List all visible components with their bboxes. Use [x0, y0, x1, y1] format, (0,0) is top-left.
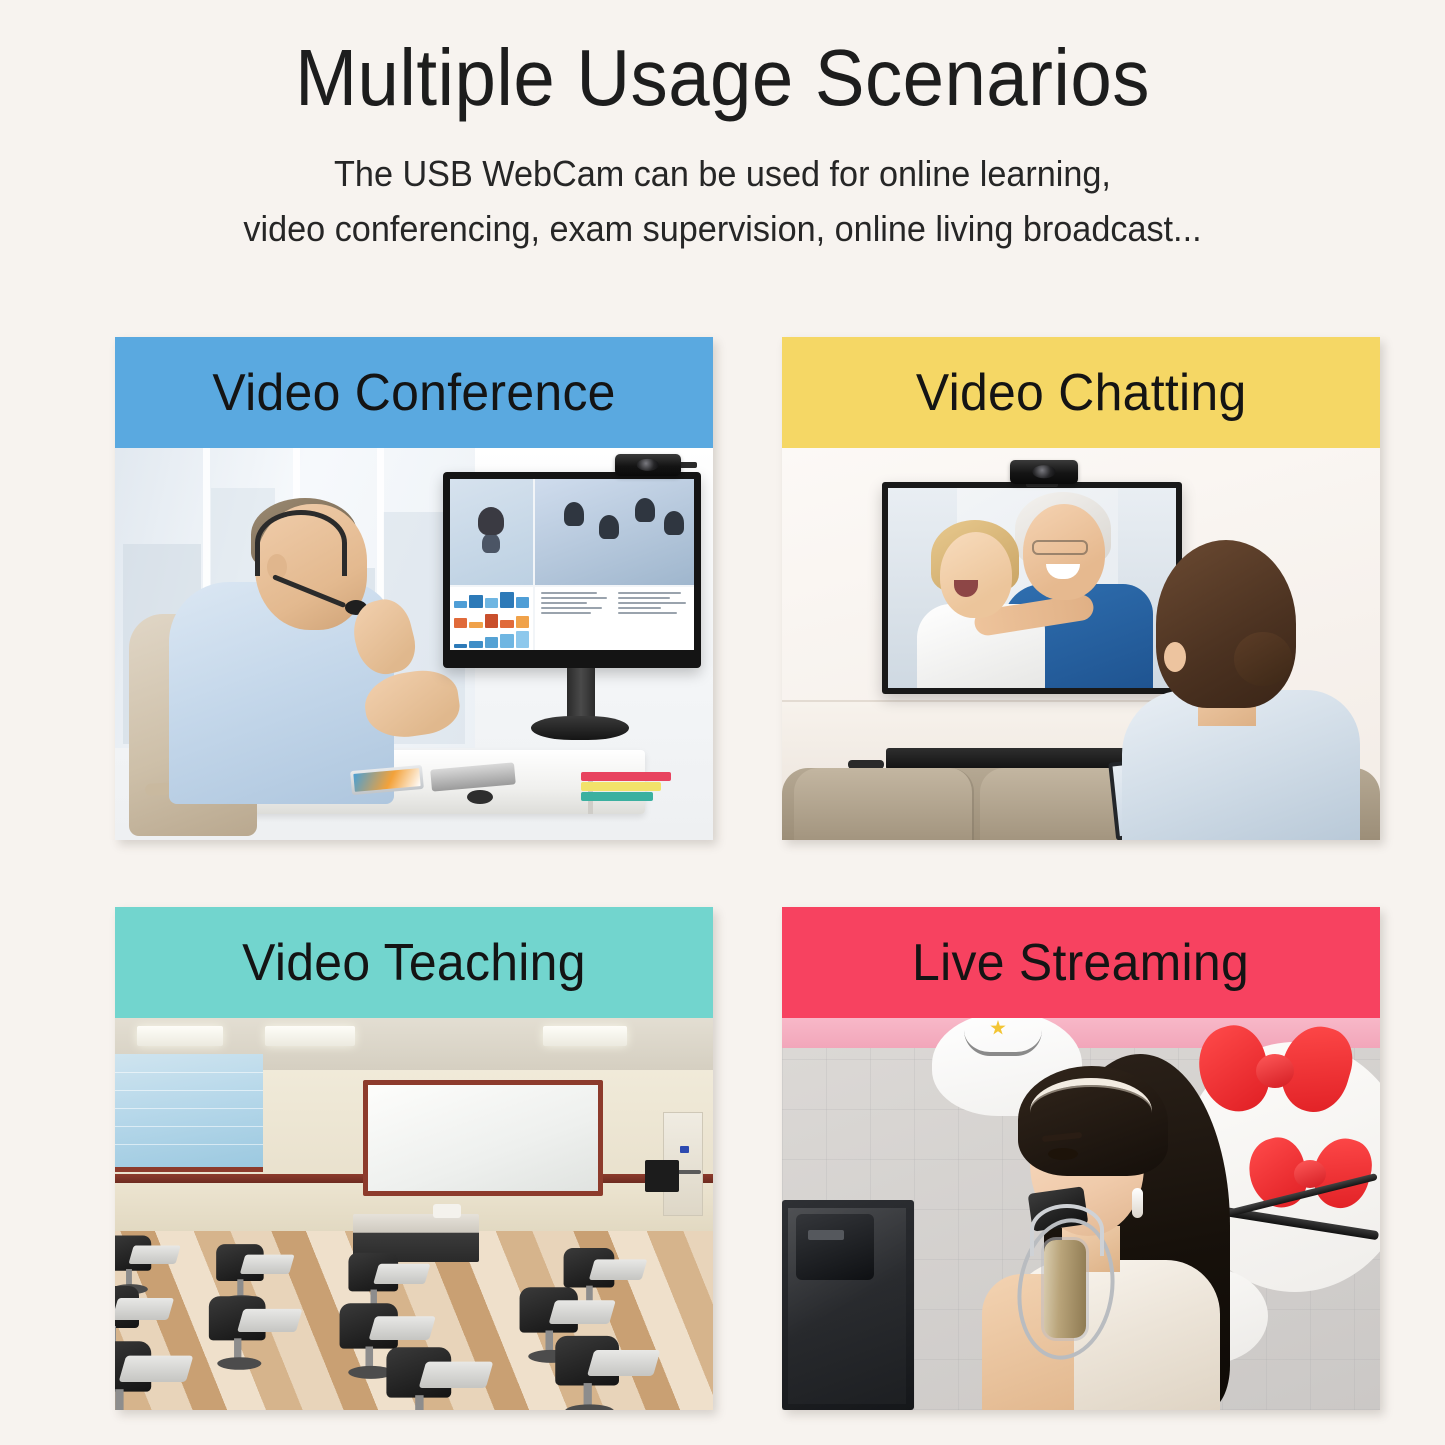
screen-text-column	[541, 592, 613, 647]
video-tile-person	[635, 498, 655, 522]
desk-clamp	[796, 1214, 874, 1280]
couch-cushion	[794, 768, 974, 840]
girl-head	[940, 532, 1012, 618]
grandmother-glasses	[1032, 540, 1088, 555]
viewer-person	[1112, 540, 1362, 840]
ceiling-light	[543, 1026, 627, 1046]
scenario-card-live-streaming[interactable]: Live Streaming	[782, 907, 1380, 1410]
card-photo-video-teaching	[115, 1018, 713, 1410]
page-subtitle-line-2: video conferencing, exam supervision, on…	[36, 202, 1409, 257]
person-ear	[1164, 642, 1186, 672]
card-label-live-streaming: Live Streaming	[912, 933, 1249, 993]
desk-notebooks	[581, 772, 671, 802]
wall-mounted-monitor	[645, 1160, 679, 1192]
card-banner-video-teaching: Video Teaching	[115, 907, 713, 1018]
whiteboard-surface	[368, 1085, 598, 1191]
page-subtitle: The USB WebCam can be used for online le…	[36, 147, 1409, 256]
person-hair-bun	[1234, 632, 1292, 686]
card-banner-video-chatting: Video Chatting	[782, 337, 1380, 448]
student-desk	[209, 1296, 299, 1367]
headset-band-icon	[255, 510, 347, 576]
page-title: Multiple Usage Scenarios	[51, 36, 1395, 121]
monitor-base	[531, 716, 629, 740]
scenario-card-video-chatting[interactable]: Video Chatting	[782, 337, 1380, 840]
screen-chart-panel	[450, 587, 533, 650]
card-banner-live-streaming: Live Streaming	[782, 907, 1380, 1018]
ceiling-light	[265, 1026, 355, 1046]
person-earring	[1132, 1188, 1143, 1218]
monitor-screen	[450, 479, 694, 650]
scenario-card-video-teaching[interactable]: Video Teaching	[115, 907, 713, 1410]
card-label-video-chatting: Video Chatting	[916, 363, 1247, 423]
usb-webcam-icon	[1010, 460, 1078, 484]
video-tile-person	[599, 515, 619, 539]
panel-indicator-led	[680, 1146, 689, 1153]
desk-mouse	[467, 790, 493, 804]
desk-object	[433, 1204, 461, 1218]
student-desk	[216, 1244, 292, 1304]
person-eye	[1048, 1148, 1078, 1160]
student-desk	[115, 1235, 178, 1292]
page-header: Multiple Usage Scenarios The USB WebCam …	[0, 0, 1445, 256]
screen-text-panel	[535, 587, 694, 650]
presenter-person	[159, 504, 429, 804]
card-label-video-conference: Video Conference	[212, 363, 615, 423]
classroom-window	[115, 1054, 263, 1172]
card-photo-video-conference	[115, 448, 713, 840]
studio-microphone	[1044, 1240, 1086, 1338]
scenario-card-grid: Video Conference	[115, 337, 1380, 1410]
student-desk	[555, 1336, 656, 1410]
card-photo-live-streaming	[782, 1018, 1380, 1410]
desk-clamp-slot	[808, 1230, 844, 1240]
scenario-card-video-conference[interactable]: Video Conference	[115, 337, 713, 840]
ceiling-light	[137, 1026, 223, 1046]
video-tile-participant	[450, 479, 533, 585]
screen-bar-chart	[454, 591, 529, 608]
screen-bar-chart	[454, 611, 529, 628]
video-tile-person	[664, 511, 684, 535]
usb-webcam-icon	[615, 454, 681, 476]
screen-area-chart	[454, 631, 529, 648]
card-banner-video-conference: Video Conference	[115, 337, 713, 448]
card-label-video-teaching: Video Teaching	[242, 933, 586, 993]
desktop-monitor	[443, 472, 701, 668]
video-tile-person	[564, 502, 584, 526]
monitor-stand	[567, 668, 595, 720]
card-photo-video-chatting	[782, 448, 1380, 840]
streamer-person	[978, 1038, 1278, 1410]
screen-text-column	[618, 592, 690, 647]
page-subtitle-line-1: The USB WebCam can be used for online le…	[36, 147, 1409, 202]
usage-scenarios-page: Multiple Usage Scenarios The USB WebCam …	[0, 0, 1445, 1445]
video-tile-meeting-room	[535, 479, 694, 585]
student-desk	[115, 1341, 190, 1410]
student-desk	[386, 1347, 489, 1410]
classroom-whiteboard	[363, 1080, 603, 1196]
pearl-headband	[1030, 1078, 1152, 1144]
